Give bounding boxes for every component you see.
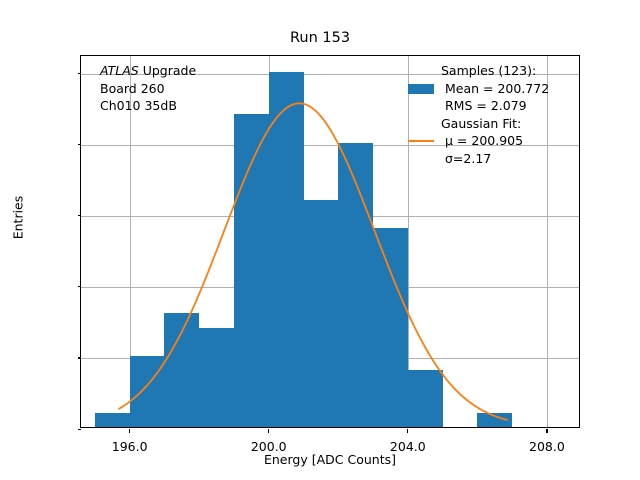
legend-entry-fit: μ = 200.905 [408,132,549,150]
annotation-line-2: Board 260 [100,80,196,98]
legend-fit-header: Gaussian Fit: [441,115,549,133]
x-axis-label: Energy [ADC Counts] [80,452,580,467]
x-tick-mark [129,429,130,433]
y-tick-mark [78,286,82,287]
atlas-annotation: ATLAS Upgrade Board 260 Ch010 35dB [100,62,196,115]
legend-swatch-histogram [408,80,434,98]
x-tick-label: 200.0 [229,439,309,454]
upgrade-label: Upgrade [139,63,196,78]
x-tick-mark [546,429,547,433]
chart-title: Run 153 [0,30,640,46]
annotation-line-1: ATLAS Upgrade [100,62,196,80]
legend-swatch-fit-line [408,132,434,150]
y-tick-mark [78,429,82,430]
legend-samples-header: Samples (123): [441,62,549,80]
y-tick-mark [78,144,82,145]
matplotlib-figure: Run 153 Entries Energy [ADC Counts] 0510… [0,0,640,480]
y-axis-label: Entries [11,138,26,298]
x-tick-mark [407,429,408,433]
annotation-line-3: Ch010 35dB [100,97,196,115]
atlas-label: ATLAS [100,63,139,78]
x-tick-label: 196.0 [90,439,170,454]
y-tick-mark [78,215,82,216]
legend-entry-samples: Mean = 200.772 [408,80,549,98]
x-tick-mark [268,429,269,433]
x-tick-label: 204.0 [368,439,448,454]
x-tick-label: 208.0 [507,439,587,454]
legend-samples-rms: RMS = 2.079 [441,97,549,115]
y-tick-mark [78,357,82,358]
legend-samples-mean: Mean = 200.772 [441,80,549,98]
legend-fit-mu: μ = 200.905 [441,132,523,150]
y-tick-mark [78,73,82,74]
legend-fit-sigma: σ=2.17 [441,150,549,168]
chart-legend: Samples (123): Mean = 200.772 RMS = 2.07… [408,62,549,167]
